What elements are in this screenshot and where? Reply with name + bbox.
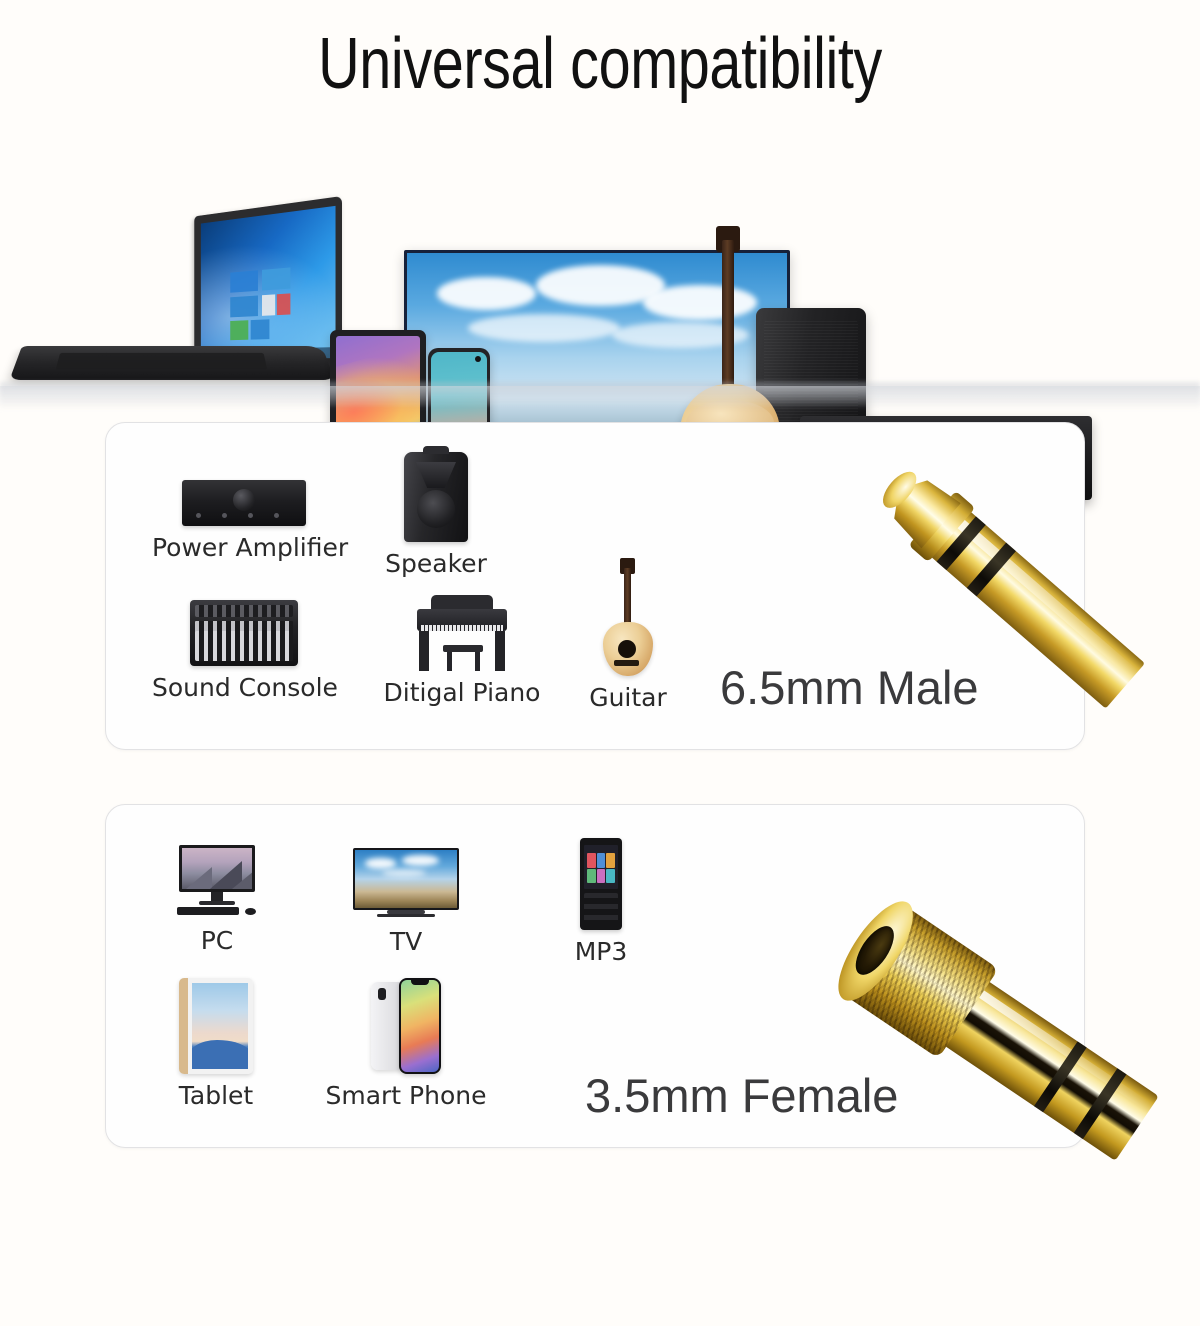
item-speaker: Speaker	[368, 452, 504, 578]
cloud-shape	[468, 314, 620, 342]
speaker-icon	[404, 452, 468, 542]
mp3-player-icon	[580, 838, 622, 930]
spec-label-female: 3.5mm Female	[585, 1068, 898, 1123]
item-guitar: Guitar	[570, 558, 686, 712]
tv-icon	[353, 848, 459, 920]
cloud-shape	[437, 277, 536, 309]
item-label: Ditigal Piano	[376, 678, 548, 707]
item-tv: TV	[350, 848, 462, 956]
cloud-shape	[382, 869, 427, 877]
item-power-amplifier: Power Amplifier	[152, 480, 336, 562]
spec-label-male: 6.5mm Male	[720, 660, 979, 715]
item-pc: PC	[158, 845, 276, 955]
windows-start-tiles	[231, 267, 292, 339]
item-label: Sound Console	[152, 673, 336, 702]
power-amplifier-icon	[182, 480, 306, 526]
hero-reflection	[0, 382, 1200, 416]
item-label: TV	[350, 927, 462, 956]
tablet-icon	[179, 978, 253, 1074]
laptop-screen	[201, 206, 336, 360]
cloud-shape	[365, 858, 396, 868]
laptop-keyboard	[56, 353, 268, 370]
item-label: Guitar	[570, 683, 686, 712]
guitar-neck	[722, 240, 734, 398]
item-label: Power Amplifier	[152, 533, 336, 562]
item-label: PC	[158, 926, 276, 955]
item-digital-piano: Ditigal Piano	[376, 595, 548, 707]
hero-laptop	[22, 196, 342, 406]
guitar-icon	[599, 558, 657, 676]
item-tablet: Tablet	[156, 978, 276, 1110]
cloud-shape	[402, 855, 439, 867]
item-mp3: MP3	[546, 838, 656, 966]
product-infographic: Universal compatibility	[0, 0, 1200, 1200]
item-label: MP3	[546, 937, 656, 966]
item-sound-console: Sound Console	[152, 600, 336, 702]
item-smart-phone: Smart Phone	[320, 978, 492, 1110]
page-title: Universal compatibility	[120, 22, 1080, 106]
digital-piano-icon	[413, 595, 511, 671]
item-label: Smart Phone	[320, 1081, 492, 1110]
item-label: Tablet	[156, 1081, 276, 1110]
laptop-base	[9, 346, 334, 380]
pc-monitor-icon	[175, 845, 259, 919]
smartphone-camera	[475, 356, 481, 362]
item-label: Speaker	[368, 549, 504, 578]
sound-console-icon	[190, 600, 298, 666]
smartphone-icon	[369, 978, 443, 1074]
hero-device-montage	[0, 108, 1200, 408]
